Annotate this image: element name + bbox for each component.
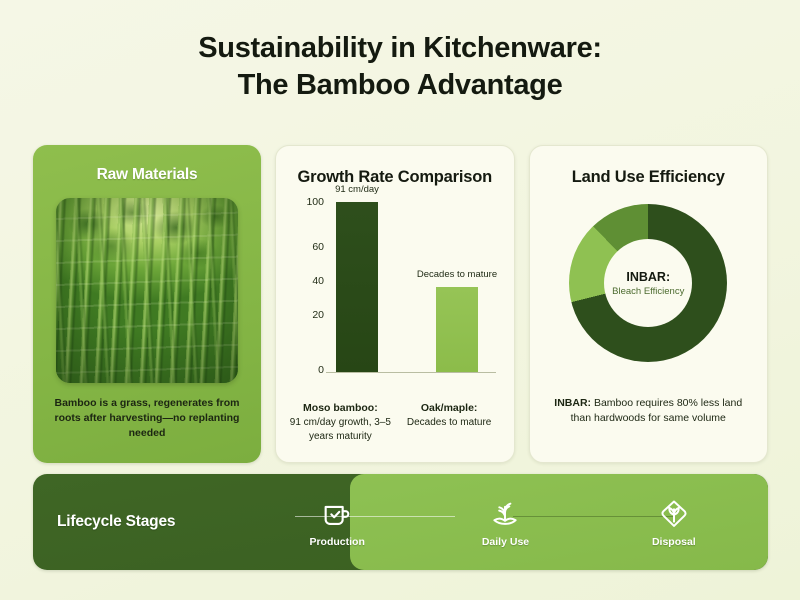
x-label-moso-detail: 91 cm/day growth, 3–5 years maturity [290,417,391,442]
infographic-page: Sustainability in Kitchenware: The Bambo… [0,0,800,600]
lifecycle-title: Lifecycle Stages [57,513,175,531]
bar-chart-x-axis-line [326,372,496,373]
card-title-land-use: Land Use Efficiency [530,168,768,187]
bar-chart-y-axis: 100 60 40 20 0 [290,202,324,372]
card-row: Raw Materials Bamboo is a grass, regener… [33,145,768,463]
card-caption-raw-materials: Bamboo is a grass, regenerates from root… [47,396,247,441]
card-title-raw-materials: Raw Materials [33,166,261,184]
sprout-icon [488,497,522,531]
bamboo-forest-photo [56,198,238,383]
title-line-1: Sustainability in Kitchenware: [198,32,602,64]
x-label-oak-maple: Oak/maple: Decades to mature [395,401,504,444]
bar-chart-plot-area: 91 cm/day Decades to mature [328,202,496,372]
x-label-moso-title: Moso bamboo: [286,401,395,416]
mug-check-icon [320,497,354,531]
card-land-use: Land Use Efficiency INBAR: Bleach Effici… [529,145,769,463]
bar-annotation-oak: Decades to mature [414,269,500,281]
y-tick-20: 20 [312,309,324,321]
lifecycle-stage-disposal[interactable]: Disposal [590,474,758,570]
bar-chart-x-labels: Moso bamboo: 91 cm/day growth, 3–5 years… [286,401,504,444]
lifecycle-stage-label-disposal: Disposal [652,536,696,548]
page-title: Sustainability in Kitchenware: The Bambo… [0,30,800,104]
x-label-moso-bamboo: Moso bamboo: 91 cm/day growth, 3–5 years… [286,401,395,444]
x-label-oak-title: Oak/maple: [395,401,504,416]
donut-center-label: INBAR: Bleach Efficiency [604,239,692,327]
y-tick-60: 60 [312,241,324,253]
leaf-diamond-icon [657,497,691,531]
y-tick-0: 0 [318,364,324,376]
donut-center-line-2: Bleach Efficiency [612,286,684,297]
title-line-2: The Bamboo Advantage [0,67,800,104]
lifecycle-stage-list: Production Daily Use [253,474,758,570]
card-growth-rate: Growth Rate Comparison 100 60 40 20 0 91… [275,145,515,463]
y-tick-100: 100 [306,196,324,208]
bar-annotation-moso: 91 cm/day [314,184,400,196]
photo-vignette-layer [56,198,238,383]
lifecycle-stage-label-daily-use: Daily Use [482,536,529,548]
bar-oak-maple [436,287,478,372]
bar-moso-bamboo [336,202,378,372]
lifecycle-bar: Lifecycle Stages Production [33,474,768,570]
caption-source-label: INBAR: [554,397,591,409]
lifecycle-stage-label-production: Production [309,536,364,548]
donut-chart: INBAR: Bleach Efficiency [569,204,727,362]
bar-chart: 100 60 40 20 0 91 cm/day Decades to matu… [276,202,514,397]
lifecycle-stage-daily-use[interactable]: Daily Use [421,474,589,570]
card-raw-materials: Raw Materials Bamboo is a grass, regener… [33,145,261,463]
caption-body: Bamboo requires 80% less land than hardw… [571,397,743,424]
lifecycle-stage-production[interactable]: Production [253,474,421,570]
y-tick-40: 40 [312,275,324,287]
x-label-oak-detail: Decades to mature [407,417,492,428]
donut-center-line-1: INBAR: [626,270,670,284]
card-caption-land-use: INBAR: Bamboo requires 80% less land tha… [546,396,752,426]
